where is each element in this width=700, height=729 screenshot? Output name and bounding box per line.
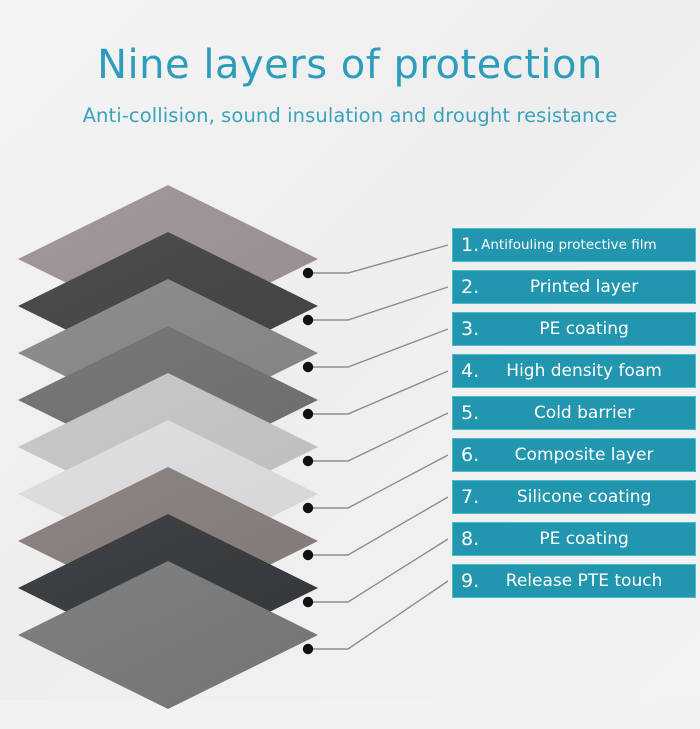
layer-label-number-6: 6. <box>453 446 479 465</box>
layer-label-text-2: Printed layer <box>479 277 695 297</box>
layer-label-text-7: Silicone coating <box>479 487 695 507</box>
layer-label-text-6: Composite layer <box>479 445 695 465</box>
layer-label-box-2[interactable]: 2.Printed layer <box>452 270 696 304</box>
layer-label-box-5[interactable]: 5.Cold barrier <box>452 396 696 430</box>
stack-layer-9 <box>0 561 330 681</box>
layer-label-number-1: 1. <box>453 236 479 255</box>
layer-label-number-4: 4. <box>453 362 479 381</box>
layer-label-text-1: Antifouling protective film <box>479 237 695 253</box>
layer-label-text-5: Cold barrier <box>479 403 695 423</box>
layer-label-text-3: PE coating <box>479 319 695 339</box>
layer-label-box-3[interactable]: 3.PE coating <box>452 312 696 346</box>
layer-label-number-2: 2. <box>453 278 479 297</box>
infographic-page: Nine layers of protection Anti-collision… <box>0 0 700 700</box>
page-subtitle: Anti-collision, sound insulation and dro… <box>0 86 700 127</box>
layer-label-box-7[interactable]: 7.Silicone coating <box>452 480 696 514</box>
layer-label-box-8[interactable]: 8.PE coating <box>452 522 696 556</box>
layer-label-number-9: 9. <box>453 572 479 591</box>
layer-label-list: 1.Antifouling protective film2.Printed l… <box>452 228 696 606</box>
layer-label-box-9[interactable]: 9.Release PTE touch <box>452 564 696 598</box>
layer-label-number-8: 8. <box>453 530 479 549</box>
layer-label-number-7: 7. <box>453 488 479 507</box>
layer-label-text-9: Release PTE touch <box>479 571 695 591</box>
layer-label-number-3: 3. <box>453 320 479 339</box>
layer-label-box-4[interactable]: 4.High density foam <box>452 354 696 388</box>
page-title: Nine layers of protection <box>0 0 700 86</box>
layer-label-number-5: 5. <box>453 404 479 423</box>
layer-label-box-6[interactable]: 6.Composite layer <box>452 438 696 472</box>
layer-label-text-8: PE coating <box>479 529 695 549</box>
header: Nine layers of protection Anti-collision… <box>0 0 700 127</box>
layer-label-box-1[interactable]: 1.Antifouling protective film <box>452 228 696 262</box>
layer-label-text-4: High density foam <box>479 361 695 381</box>
layer-stack-diagram <box>0 185 430 645</box>
layer-sheet <box>18 561 318 709</box>
